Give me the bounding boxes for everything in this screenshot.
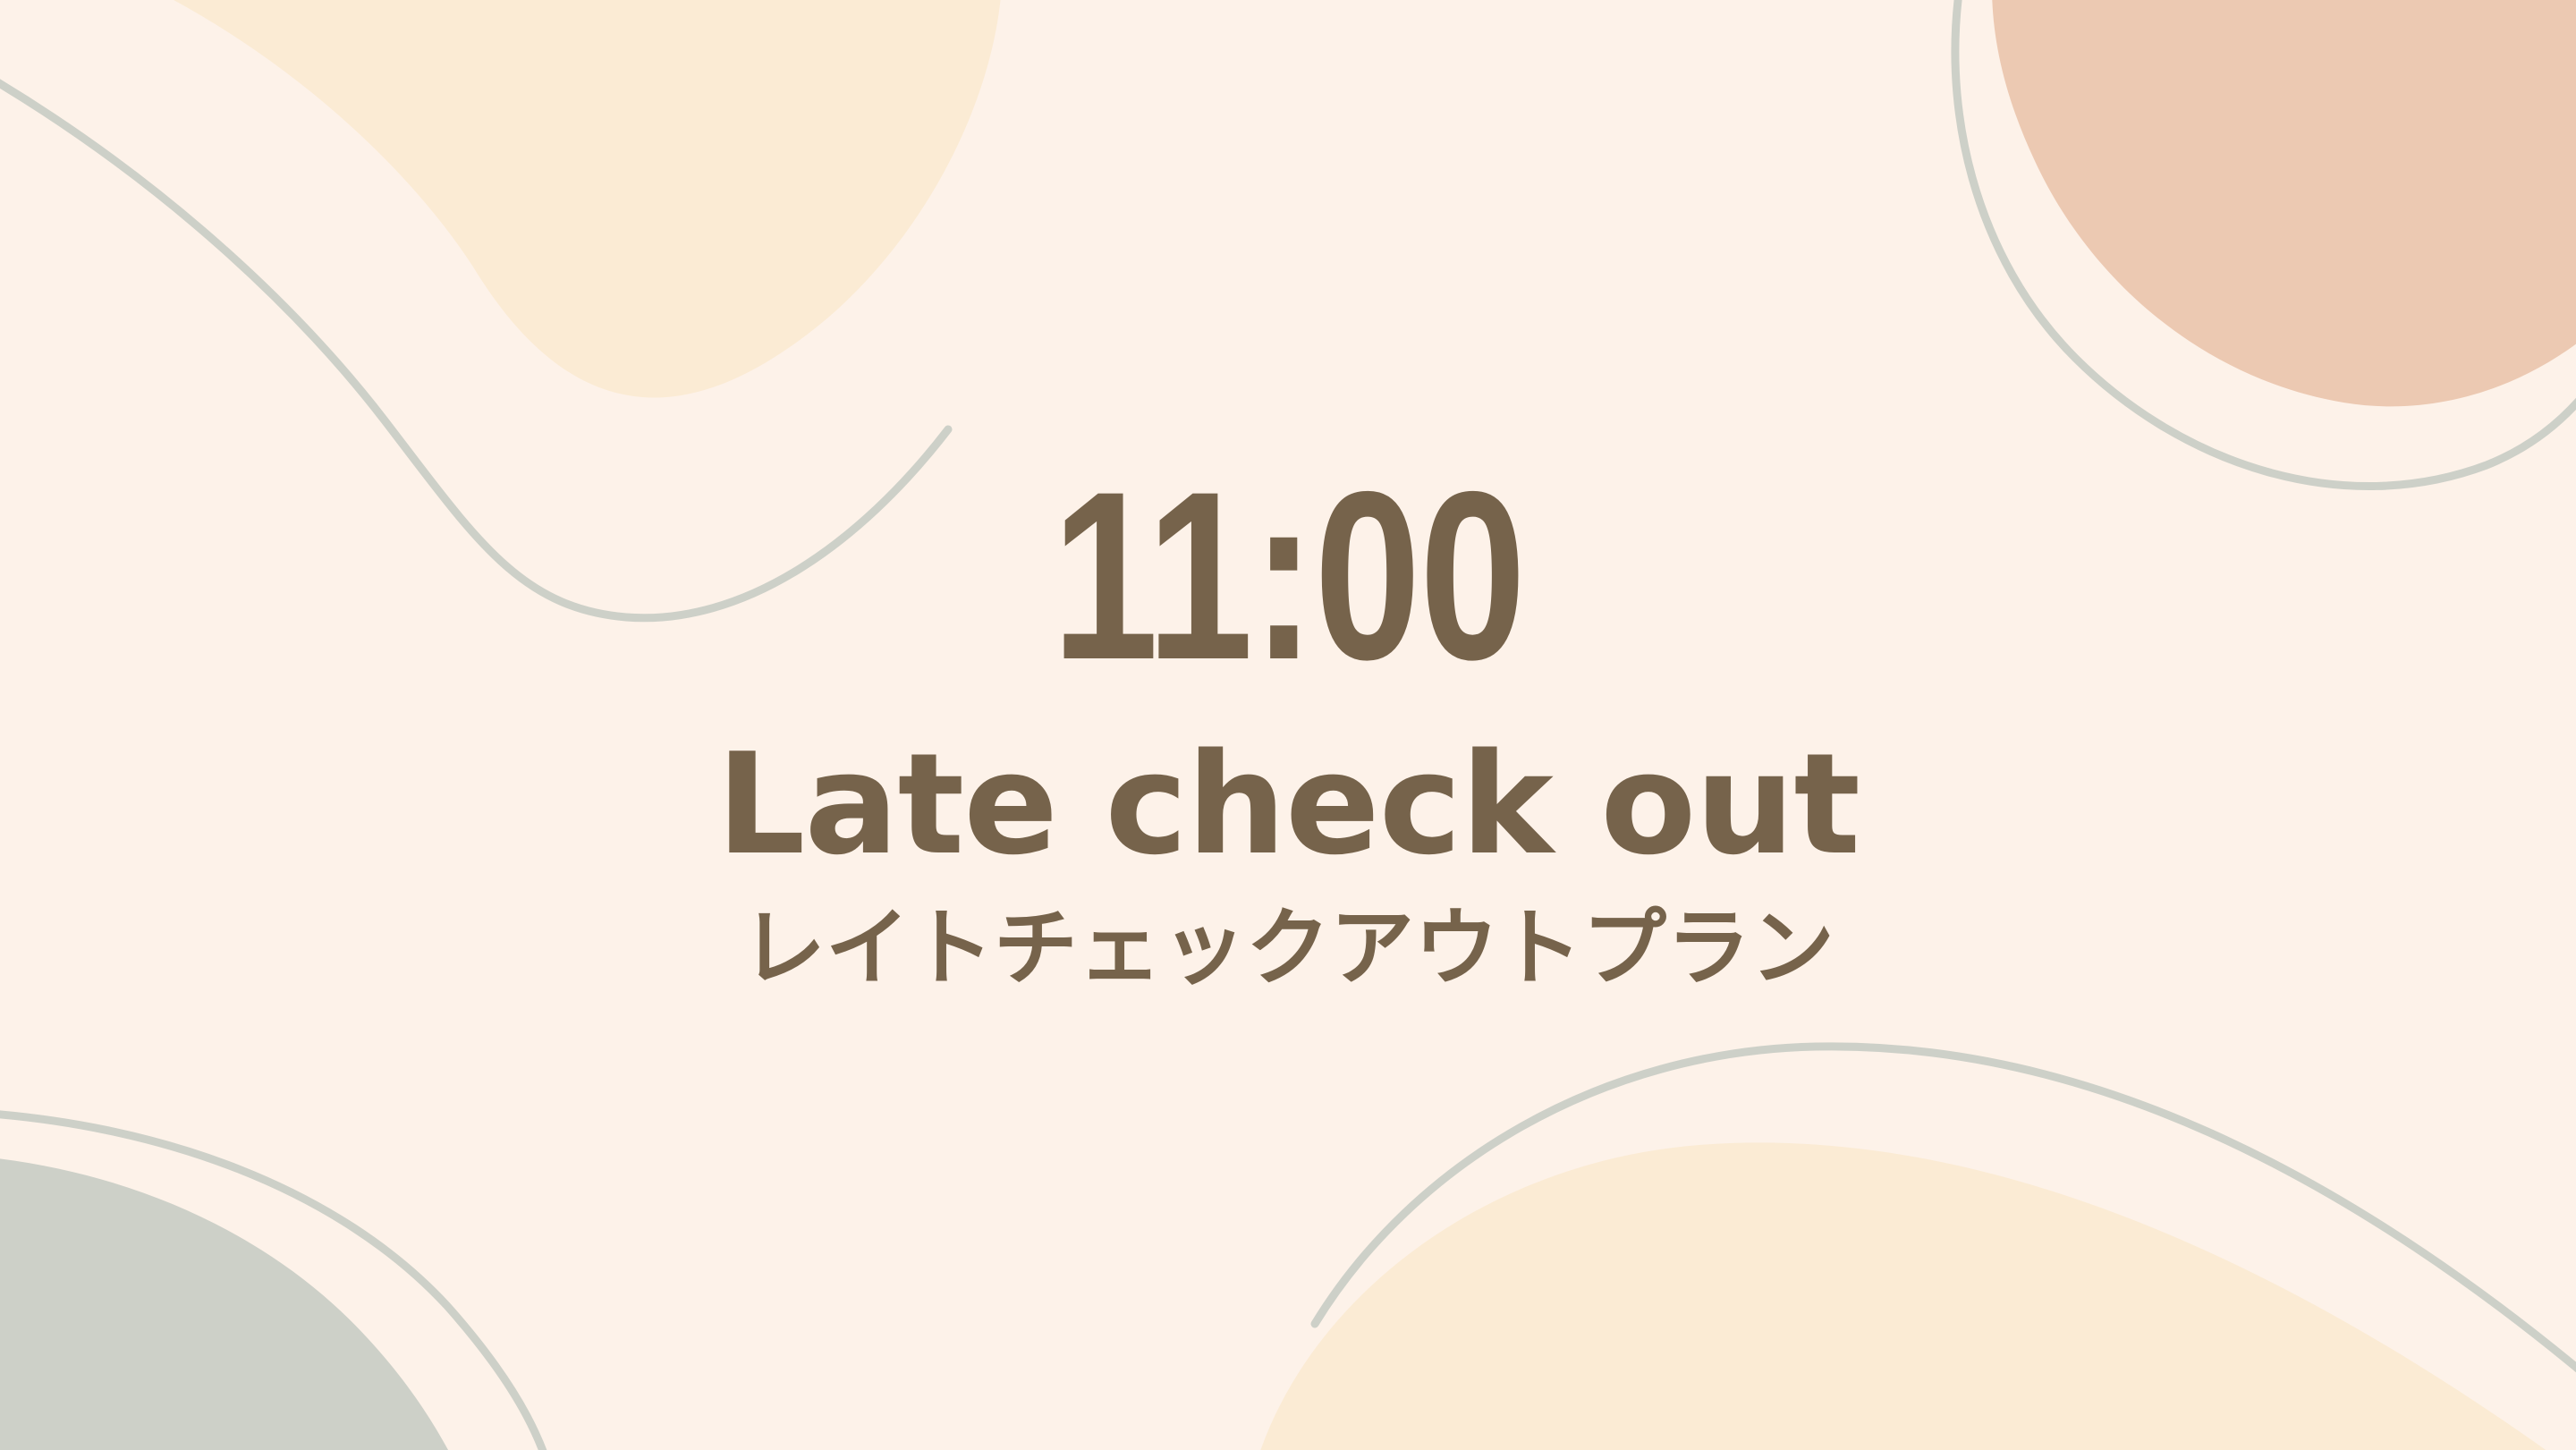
plan-subline-japanese: レイトチェックアウトプラン xyxy=(741,903,1835,995)
plan-headline: Late check out xyxy=(716,729,1860,879)
checkout-time: 11:00 xyxy=(1052,455,1525,695)
poster-canvas: 11:00 Late check out レイトチェックアウトプラン xyxy=(0,0,2576,1450)
poster-text-block: 11:00 Late check out レイトチェックアウトプラン xyxy=(0,0,2576,1450)
